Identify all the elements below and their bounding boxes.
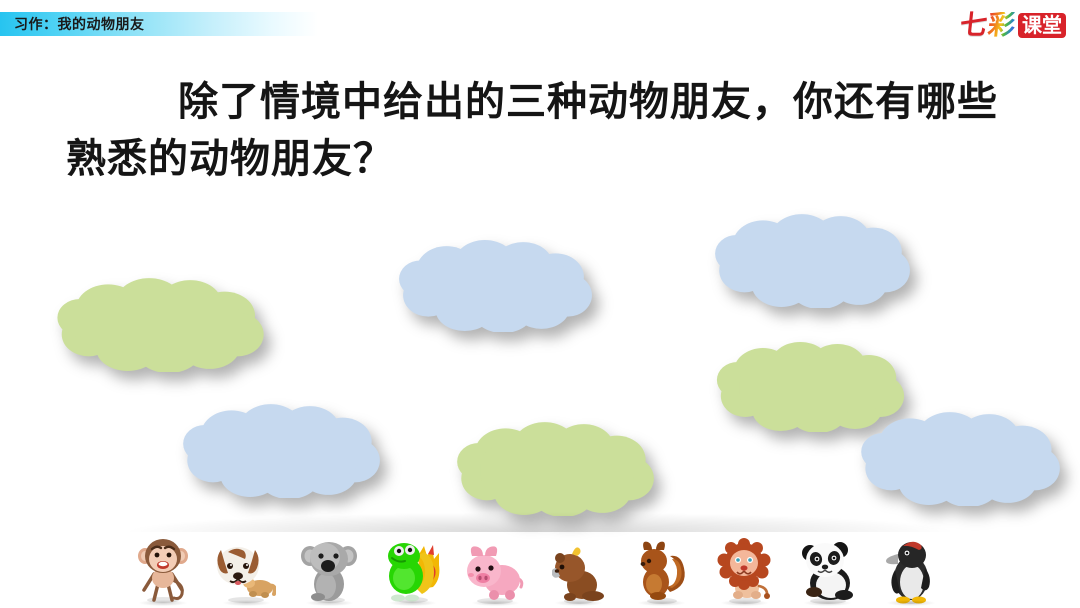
animal-pig-icon bbox=[464, 534, 526, 604]
slide-canvas: 习作：我的动物朋友 七 彩 课堂 除了情境中给出的三种动物朋友，你还有哪些熟悉的… bbox=[0, 0, 1080, 608]
animal-penguin-icon bbox=[880, 534, 942, 604]
page-title: 习作：我的动物朋友 bbox=[14, 14, 145, 34]
animal-koala-icon bbox=[298, 534, 360, 604]
cloud-hamster[interactable] bbox=[710, 212, 914, 308]
cloud-parrot[interactable] bbox=[52, 276, 268, 372]
animal-strip bbox=[132, 528, 942, 604]
logo-badge: 课堂 bbox=[1018, 13, 1066, 38]
animal-dog-icon bbox=[215, 534, 277, 604]
cloud-duck[interactable] bbox=[178, 402, 384, 498]
cloud-rabbit[interactable] bbox=[394, 238, 596, 332]
cloud-turtle[interactable] bbox=[452, 420, 658, 516]
animal-panda-icon bbox=[797, 534, 859, 604]
brand-logo: 七 彩 课堂 bbox=[960, 9, 1066, 41]
animal-beaver-icon bbox=[548, 534, 610, 604]
animal-squirrel-icon bbox=[631, 534, 693, 604]
cloud-rooster[interactable] bbox=[856, 410, 1064, 506]
animal-lion-icon bbox=[714, 534, 776, 604]
header-bar: 习作：我的动物朋友 bbox=[0, 12, 318, 36]
main-heading: 除了情境中给出的三种动物朋友，你还有哪些熟悉的动物朋友？ bbox=[66, 74, 1026, 188]
logo-char-cai: 彩 bbox=[987, 12, 1017, 39]
animal-dinosaur-icon bbox=[381, 534, 443, 604]
animal-monkey-icon bbox=[132, 534, 194, 604]
logo-char-qi: 七 bbox=[959, 12, 989, 39]
logo-badge-label: 课堂 bbox=[1022, 15, 1062, 35]
